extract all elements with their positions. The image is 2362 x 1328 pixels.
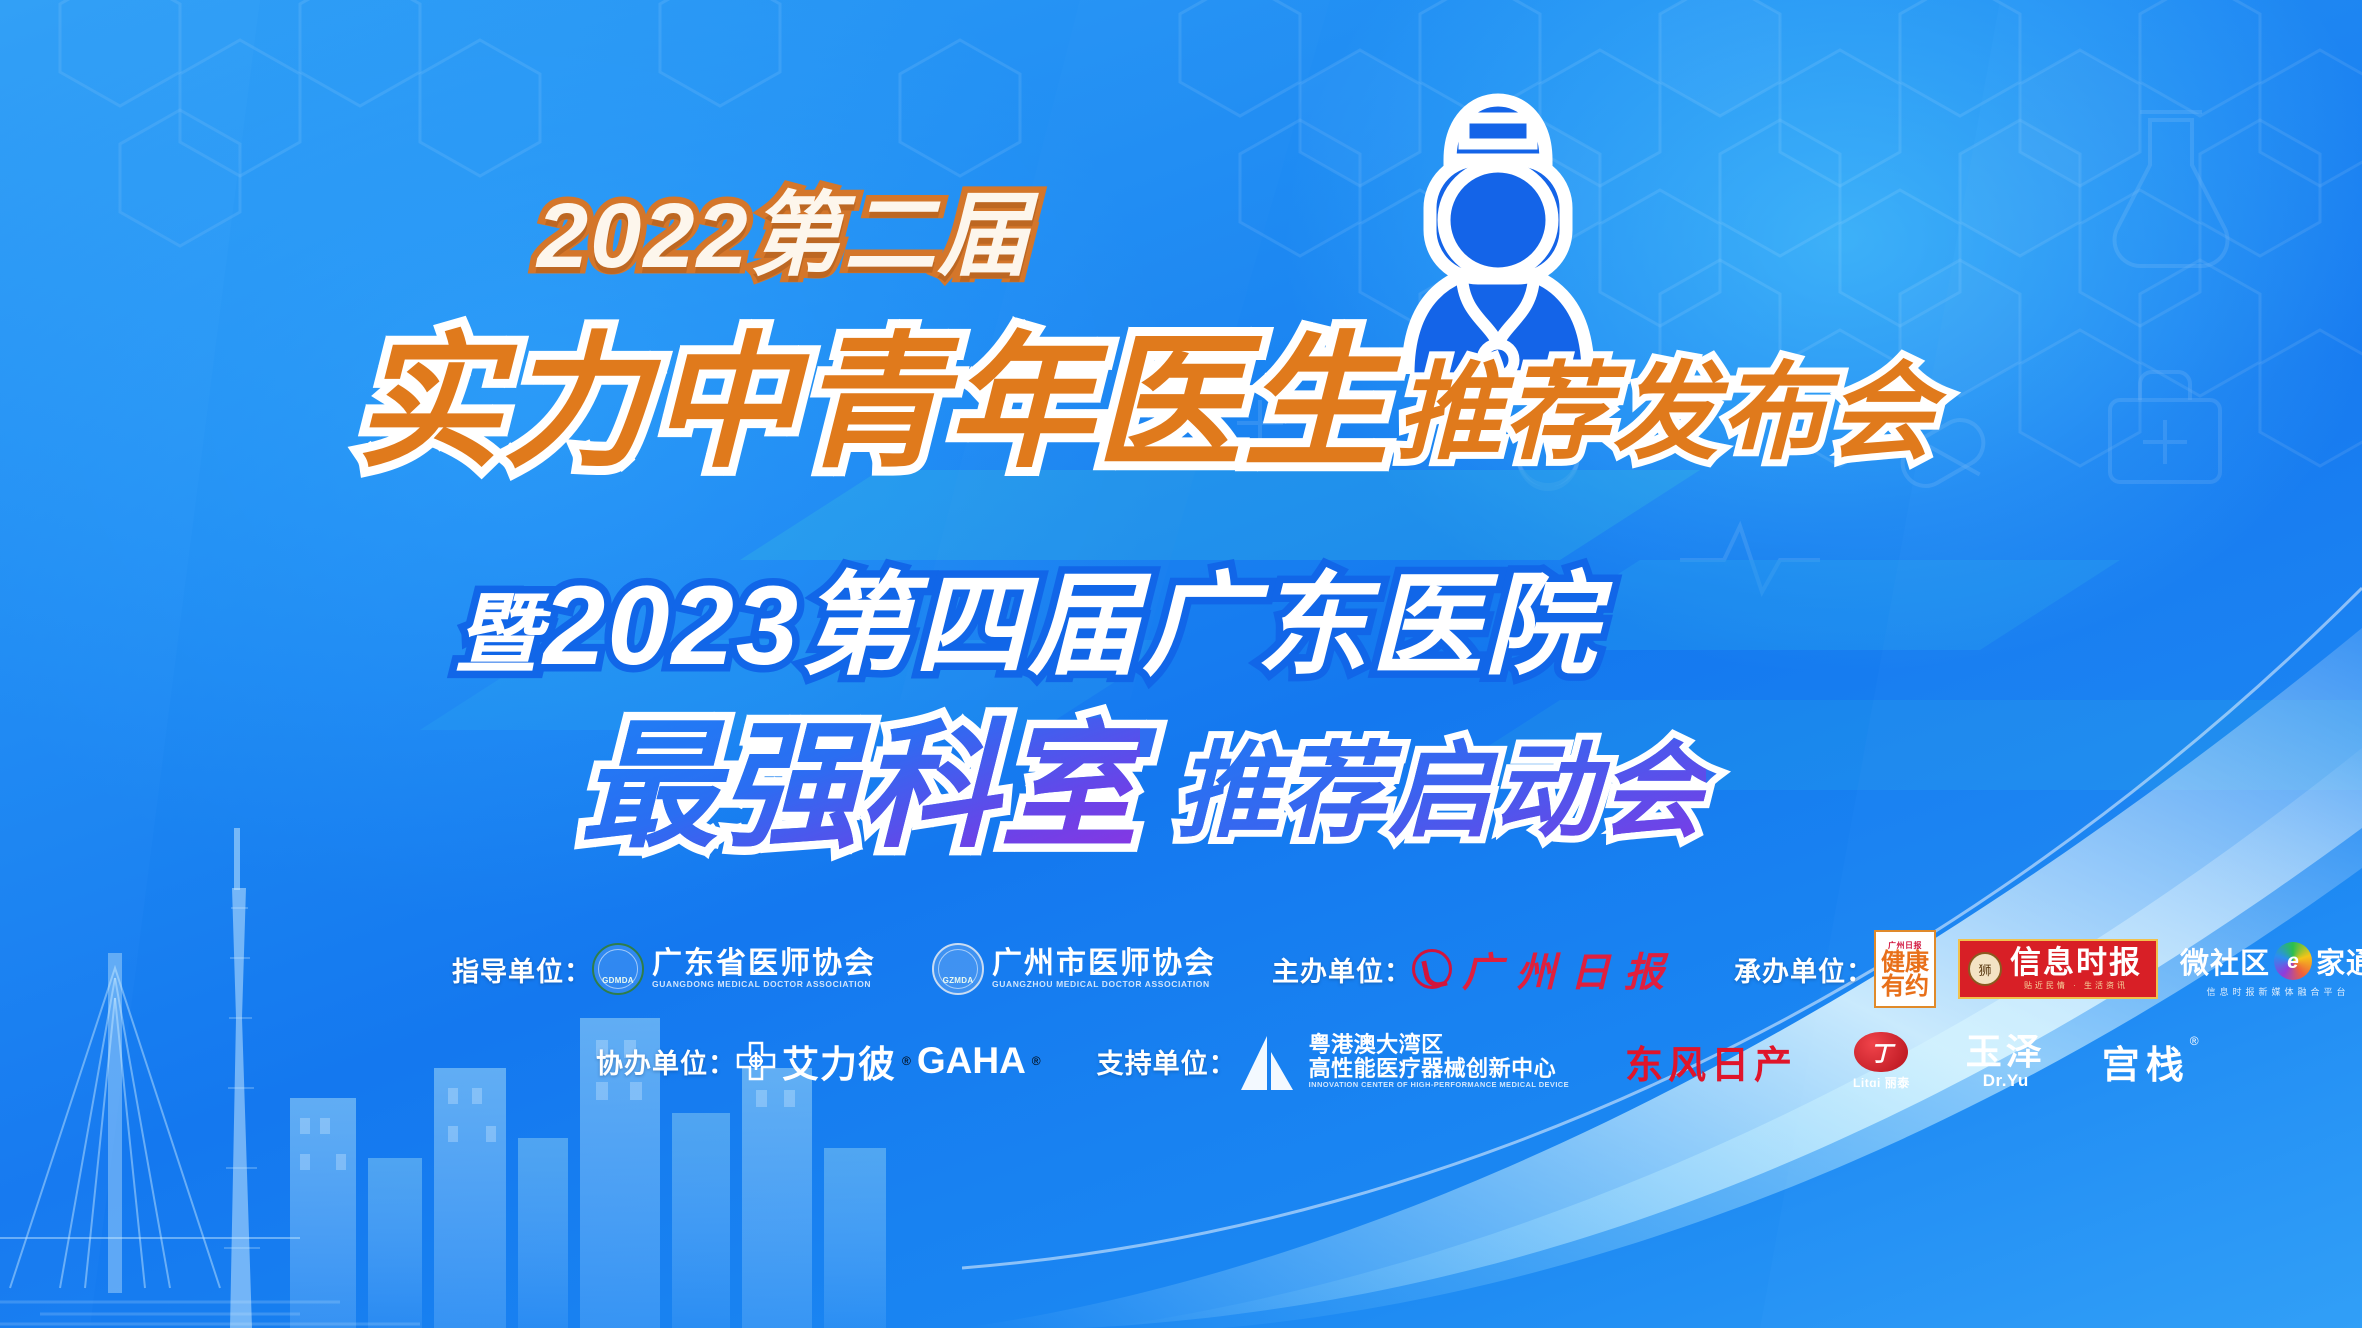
gba-line3-en: INNOVATION CENTER OF HIGH-PERFORMANCE ME…: [1309, 1081, 1569, 1089]
title-line-main: 实力中青年医生: [355, 330, 1391, 476]
weishequ-slogan: 信息时报新媒体融合平台: [2207, 985, 2350, 998]
gzmda-seal-text: GZMDA: [934, 976, 982, 985]
litai-name-cn: 丽泰: [1885, 1076, 1910, 1090]
title-secondary-text: 2023第四届广东医院: [543, 563, 1598, 688]
information-times-name: 信息时报: [2010, 947, 2142, 978]
title-block: 2022第二届 实力中青年医生 推荐发布会 暨2023第四届广东医院 最强科室 …: [0, 0, 2362, 900]
guidance-unit-label: 指导单位：: [452, 950, 592, 989]
logo-gdmda: GDMDA 广东省医师协会 GUANGDONG MEDICAL DOCTOR A…: [592, 943, 876, 995]
gaha-name-cn: 艾力彼: [782, 1034, 896, 1088]
gba-mountain-icon: [1237, 1030, 1297, 1092]
jkyy-line1: 健康: [1881, 952, 1929, 975]
logo-litai: 丁 Litɑi 丽泰: [1853, 1032, 1910, 1091]
gongzhan-reg: ®: [2190, 1034, 2199, 1048]
gba-line1: 粤港澳大湾区: [1309, 1033, 1569, 1057]
litai-name-en: Litɑi: [1853, 1076, 1881, 1090]
support-unit-label: 支持单位：: [1097, 1042, 1237, 1081]
organizer-unit-label: 承办单位：: [1734, 950, 1874, 989]
title-ji-char: 暨: [455, 587, 543, 683]
gongzhan-name-cn: 宫栈: [2102, 1034, 2190, 1089]
information-times-seal-icon: 狮: [1968, 952, 2002, 986]
title-line-year-session: 2022第二届: [537, 190, 1032, 282]
gaha-name-en: GAHA: [917, 1040, 1026, 1082]
logo-dongfeng-nissan: 东风日产: [1625, 1034, 1797, 1089]
gba-line2: 高性能医疗器械创新中心: [1309, 1057, 1569, 1081]
gaha-reg-2: ®: [1032, 1054, 1041, 1068]
gdmda-name-cn: 广东省医师协会: [652, 949, 876, 980]
litai-badge-glyph: 丁: [1870, 1036, 1892, 1068]
gzmda-name-en: GUANGZHOU MEDICAL DOCTOR ASSOCIATION: [992, 979, 1216, 989]
jkyy-line2: 有约: [1881, 976, 1929, 999]
gdmda-name-en: GUANGDONG MEDICAL DOCTOR ASSOCIATION: [652, 979, 876, 989]
dryu-name-en: Dr.Yu: [1983, 1072, 2029, 1089]
title-line-secondary: 暨2023第四届广东医院: [455, 570, 1598, 682]
logo-guangzhou-daily: 广州日报: [1412, 940, 1678, 998]
weishequ-name-part1: 微社区: [2180, 940, 2270, 982]
gaha-reg-1: ®: [902, 1054, 911, 1068]
guangzhou-daily-name: 广州日报: [1462, 940, 1678, 998]
guangzhou-daily-mark-icon: [1412, 949, 1452, 989]
logo-jiankang-youyue: 广州日报 健康 有约: [1874, 930, 1936, 1008]
logo-gba-medical-device-center: 粤港澳大湾区 高性能医疗器械创新中心 INNOVATION CENTER OF …: [1237, 1030, 1569, 1092]
dryu-name-cn: 玉泽: [1966, 1034, 2046, 1070]
weishequ-name-part2: 家通: [2316, 940, 2362, 982]
coorganizer-unit-label: 协办单位：: [596, 1042, 736, 1081]
title-line-main-suffix: 推荐发布会: [1396, 360, 1936, 466]
sponsor-row-2: 协办单位： 艾力彼 ® GAHA ® 支持单位：: [596, 1030, 2199, 1092]
ejiatong-e-letter: e: [2287, 951, 2299, 972]
gzmda-name-cn: 广州市医师协会: [992, 949, 1216, 980]
logo-gzmda: GZMDA 广州市医师协会 GUANGZHOU MEDICAL DOCTOR A…: [932, 943, 1216, 995]
gdmda-seal-icon: GDMDA: [592, 943, 644, 995]
sponsor-row-1: 指导单位： GDMDA 广东省医师协会 GUANGDONG MEDICAL DO…: [452, 930, 2362, 1008]
host-unit-label: 主办单位：: [1272, 950, 1412, 989]
logo-gaha: 艾力彼 ® GAHA ®: [736, 1034, 1041, 1088]
logo-dr-yu: 玉泽 Dr.Yu: [1966, 1034, 2046, 1089]
gzmda-seal-icon: GZMDA: [932, 943, 984, 995]
gdmda-seal-text: GDMDA: [594, 976, 642, 985]
logo-weishequ-ejiatong: 微社区 e 家通 信息时报新媒体融合平台: [2180, 940, 2362, 998]
information-times-slogan: 贴近民情 · 生活资讯: [2024, 980, 2128, 991]
ejiatong-e-icon: e: [2274, 942, 2312, 980]
gaha-cross-icon: [736, 1041, 776, 1081]
litai-badge-icon: 丁: [1854, 1032, 1908, 1072]
logo-information-times: 狮 信息时报 贴近民情 · 生活资讯: [1958, 939, 2158, 999]
title-line-launch: 推荐启动会: [1176, 740, 1706, 844]
logo-gongzhan: 宫栈 ®: [2102, 1034, 2199, 1089]
title-line-strongest-dept: 最强科室: [580, 718, 1140, 856]
event-poster: 2022第二届 实力中青年医生 推荐发布会 暨2023第四届广东医院 最强科室 …: [0, 0, 2362, 1328]
